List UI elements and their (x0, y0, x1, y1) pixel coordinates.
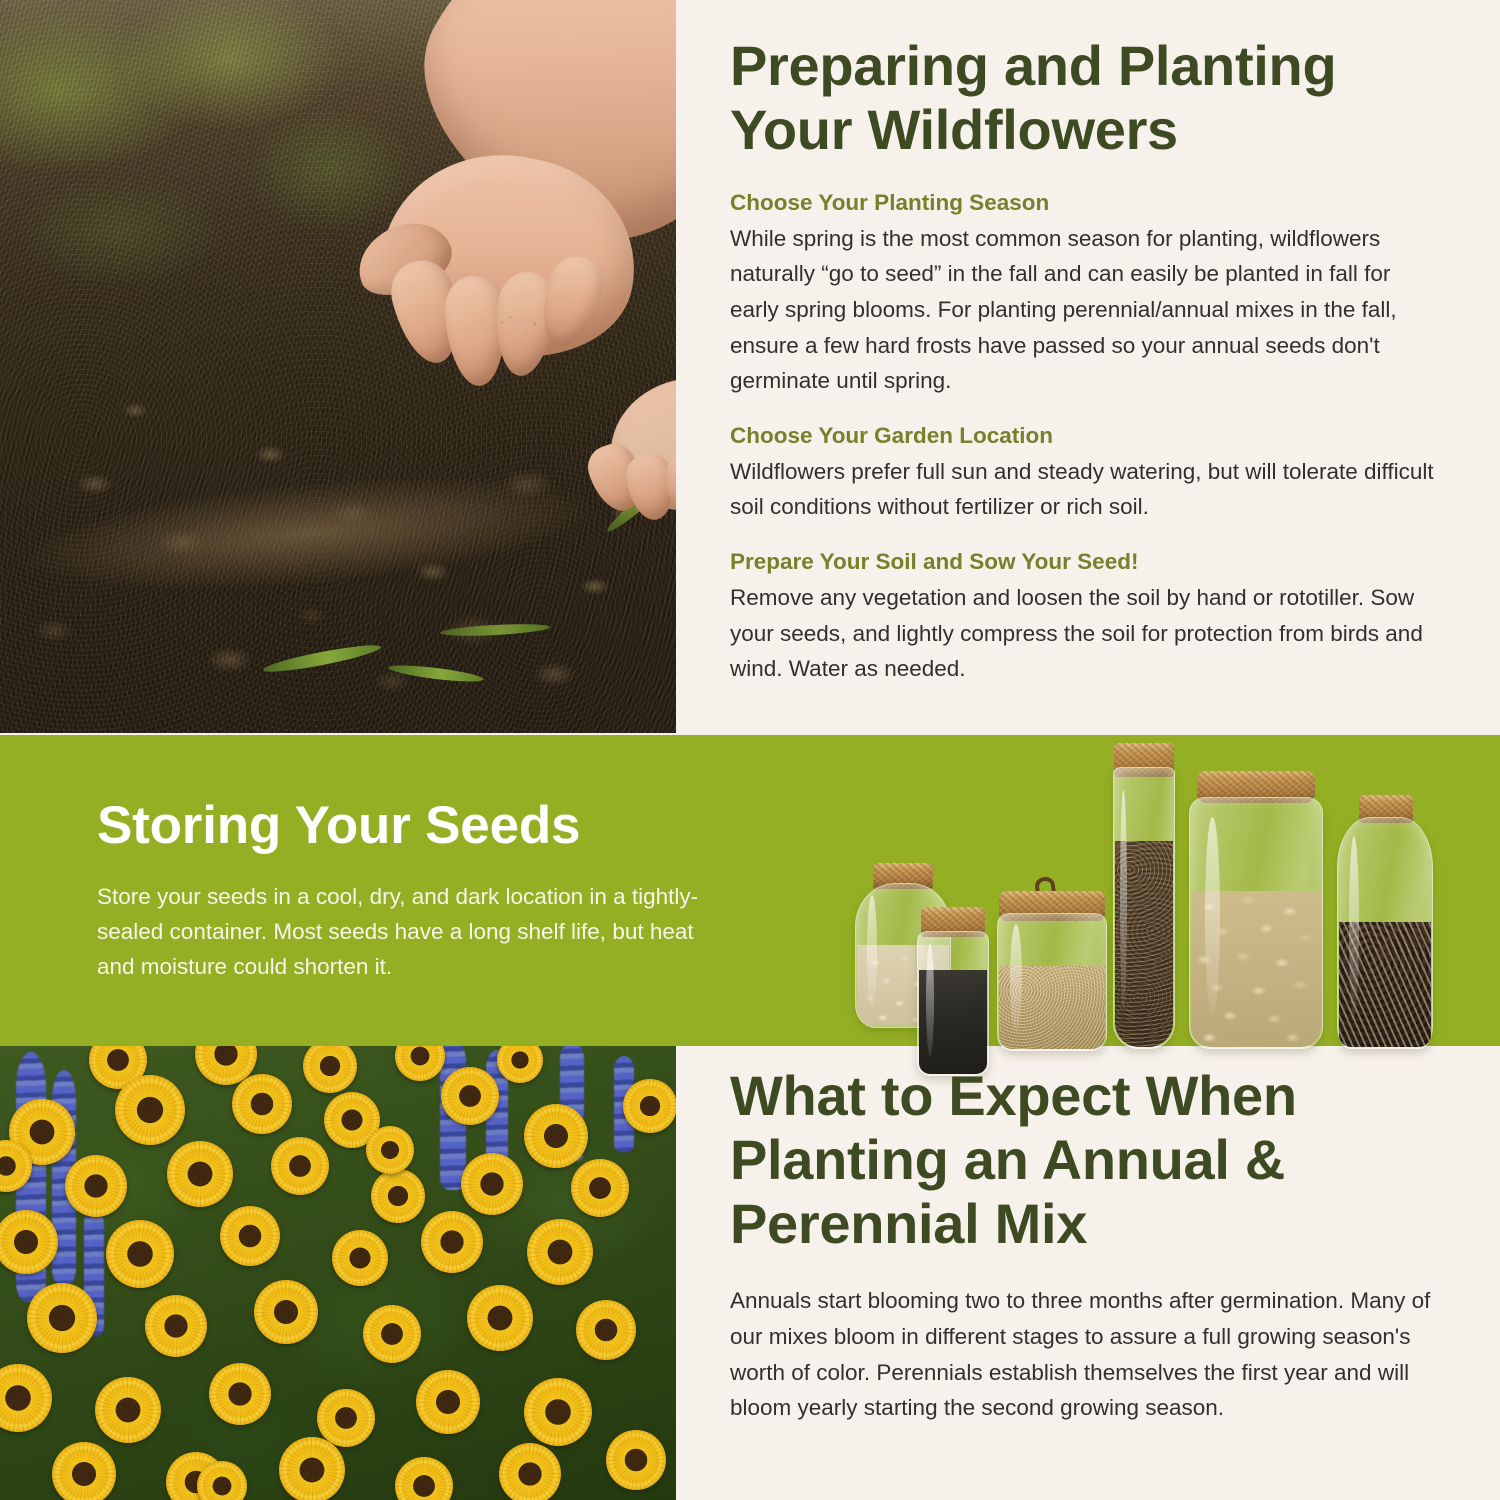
black-eyed-susan-bloom (106, 1220, 174, 1288)
black-eyed-susan-bloom (279, 1437, 345, 1500)
squash-seed-jar (1189, 797, 1323, 1049)
subheading-planting-season: Choose Your Planting Season (730, 188, 1442, 217)
striped-seed-jar (1337, 817, 1433, 1049)
glass-highlight (926, 943, 934, 1056)
black-eyed-susan-bloom (115, 1075, 185, 1145)
storing-body: Store your seeds in a cool, dry, and dar… (97, 880, 737, 984)
subheading-garden-location: Choose Your Garden Location (730, 421, 1442, 450)
photo-wildflower-field (0, 1046, 676, 1500)
subheading-prepare-soil: Prepare Your Soil and Sow Your Seed! (730, 547, 1442, 576)
black-eyed-susan-bloom (232, 1074, 292, 1134)
glass-highlight (1205, 817, 1220, 1014)
black-eyed-susan-bloom (95, 1377, 161, 1443)
expect-text-column: What to Expect When Planting an Annual &… (730, 1046, 1442, 1500)
preparing-text-column: Preparing and Planting Your Wildflowers … (730, 0, 1442, 735)
body-prepare-soil: Remove any vegetation and loosen the soi… (730, 580, 1442, 687)
black-eyed-susan-bloom (27, 1283, 97, 1353)
photo-hands-sowing-seeds (0, 0, 676, 733)
preparing-heading: Preparing and Planting Your Wildflowers (730, 34, 1442, 162)
black-eyed-susan-bloom (254, 1280, 318, 1344)
storing-heading: Storing Your Seeds (97, 797, 737, 854)
photo-seed-jars (845, 753, 1465, 1046)
black-eyed-susan-bloom (416, 1370, 480, 1434)
section-what-to-expect: What to Expect When Planting an Annual &… (0, 1046, 1500, 1500)
body-planting-season: While spring is the most common season f… (730, 221, 1442, 399)
black-eyed-susan-bloom (220, 1206, 280, 1266)
black-eyed-susan-bloom (441, 1067, 499, 1125)
seeds-in-palm (466, 289, 566, 347)
black-eyed-susan-bloom (145, 1295, 207, 1357)
black-eyed-susan-bloom (499, 1443, 561, 1500)
expect-body: Annuals start blooming two to three mont… (730, 1283, 1442, 1425)
black-eyed-susan-bloom (623, 1079, 676, 1133)
second-hand (566, 352, 676, 552)
black-eyed-susan-bloom (421, 1211, 483, 1273)
glass-highlight (867, 895, 878, 1008)
black-eyed-susan-bloom (209, 1363, 271, 1425)
black-eyed-susan-bloom (527, 1219, 593, 1285)
section-storing-seeds: Storing Your Seeds Store your seeds in a… (0, 735, 1500, 1046)
infographic-page: Preparing and Planting Your Wildflowers … (0, 0, 1500, 1500)
black-eyed-susan-bloom (371, 1169, 425, 1223)
black-eyed-susan-bloom (65, 1155, 127, 1217)
black-eyed-susan-bloom (576, 1300, 636, 1360)
body-garden-location: Wildflowers prefer full sun and steady w… (730, 454, 1442, 525)
expect-heading: What to Expect When Planting an Annual &… (730, 1064, 1442, 1255)
black-eyed-susan-bloom (167, 1141, 233, 1207)
black-eyed-susan-bloom (524, 1104, 588, 1168)
black-eyed-susan-bloom (571, 1159, 629, 1217)
black-eyed-susan-bloom (366, 1126, 414, 1174)
black-eyed-susan-bloom (363, 1305, 421, 1363)
black-eyed-susan-bloom (317, 1389, 375, 1447)
tan-seed-jar (997, 913, 1107, 1051)
black-eyed-susan-bloom (332, 1230, 388, 1286)
black-eyed-susan-bloom (606, 1430, 666, 1490)
black-eyed-susan-bloom (524, 1378, 592, 1446)
black-eyed-susan-bloom (271, 1137, 329, 1195)
black-eyed-susan-bloom (52, 1442, 116, 1500)
section-preparing-planting: Preparing and Planting Your Wildflowers … (0, 0, 1500, 735)
black-eyed-susan-bloom (461, 1153, 523, 1215)
glass-highlight (1349, 836, 1360, 1017)
storing-text-column: Storing Your Seeds Store your seeds in a… (97, 797, 737, 984)
tall-tube-jar (1113, 767, 1175, 1049)
black-eyed-susan-bloom (467, 1285, 533, 1351)
